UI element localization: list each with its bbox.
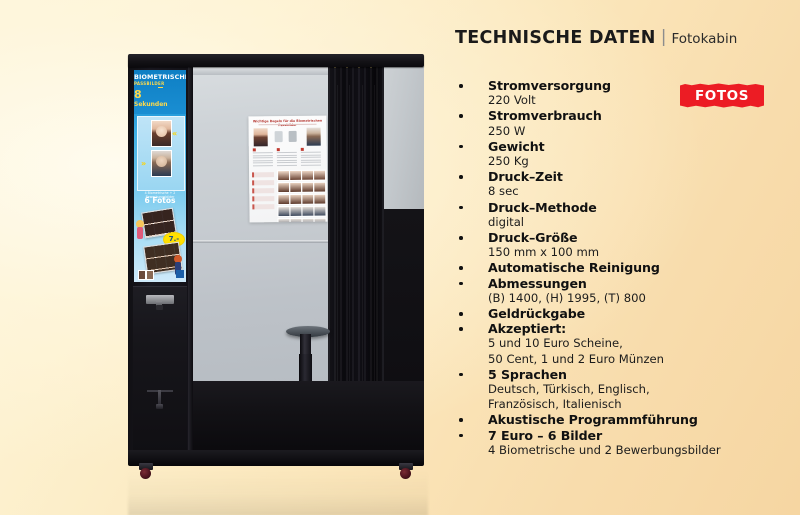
spec-description: Französisch, Italienisch: [488, 397, 797, 412]
spec-description: 5 und 10 Euro Scheine,: [488, 336, 797, 351]
coin-payment-panel: [133, 286, 187, 453]
page-title-sub: Fotokabin: [671, 31, 737, 47]
biometric-rules-poster: Wichtige Regeln für die Biometrischen Pa…: [248, 116, 327, 223]
coin-mechanism-bracket: [146, 295, 174, 304]
spec-term: 5 Sprachen: [488, 367, 797, 382]
photo-booth-image: Wichtige Regeln für die Biometrischen Pa…: [60, 20, 440, 515]
spec-description: 250 Kg: [488, 154, 797, 169]
rules-poster-text-column-3: [301, 152, 321, 167]
spec-description: 4 Biometrische und 2 Bewerbungsbilder: [488, 443, 797, 458]
booth-column-edge: [188, 65, 193, 455]
booth-rear-wall-upper: [378, 65, 424, 215]
poster-brand-logo: [176, 270, 184, 278]
spec-term: 7 Euro – 6 Bilder: [488, 428, 797, 443]
spec-item: Stromverbrauch250 W: [457, 108, 797, 138]
rules-poster-marker-3: [301, 148, 304, 151]
spec-description: 220 Volt: [488, 93, 797, 108]
rules-poster-marker-1: [253, 148, 256, 151]
spec-item: Akzeptiert:5 und 10 Euro Scheine,50 Cent…: [457, 321, 797, 367]
spec-description: 50 Cent, 1 und 2 Euro Münzen: [488, 352, 797, 367]
booth-caster-wheel: [398, 463, 414, 479]
photo-booth-cabin: Wichtige Regeln für die Biometrischen Pa…: [132, 54, 424, 469]
spec-term: Stromversorgung: [488, 78, 797, 93]
spec-term: Geldrückgabe: [488, 306, 797, 321]
booth-top-cap: [128, 54, 424, 67]
rules-poster-sample-photo-female: [254, 128, 268, 146]
spec-item: Druck–Zeit8 sec: [457, 169, 797, 199]
poster-count-label: 6 Fotos: [134, 196, 186, 205]
spec-term: Automatische Reinigung: [488, 260, 797, 275]
poster-seconds-number: 8: [134, 89, 186, 100]
booth-curtain: [328, 67, 384, 397]
service-door-lock: [156, 404, 163, 409]
spec-description: Deutsch, Türkisch, Englisch,: [488, 382, 797, 397]
spec-term: Akzeptiert:: [488, 321, 797, 336]
title-separator: |: [661, 27, 667, 47]
poster-mini-photo-2: [146, 270, 154, 280]
rules-poster-row-labels: [252, 172, 274, 212]
spec-term: Druck–Größe: [488, 230, 797, 245]
spec-term: Stromverbrauch: [488, 108, 797, 123]
spec-description: digital: [488, 215, 797, 230]
spec-term: Gewicht: [488, 139, 797, 154]
spec-description: (B) 1400, (H) 1995, (T) 800: [488, 291, 797, 306]
booth-base-panel: [184, 381, 424, 459]
poster-seconds-label: Sekunden: [134, 101, 186, 108]
spec-item: Stromversorgung220 Volt: [457, 78, 797, 108]
coin-slot: [156, 305, 163, 310]
spec-term: Abmessungen: [488, 276, 797, 291]
rules-poster-sample-grid: [277, 170, 326, 223]
rules-poster-marker-2: [277, 148, 280, 151]
rules-poster-diagram-1: [275, 131, 283, 142]
page-title-main: TECHNISCHE DATEN: [455, 28, 656, 48]
rules-poster-text-column-2: [277, 152, 297, 167]
poster-cartoon-girl: [136, 220, 144, 240]
spec-item: Druck–Methodedigital: [457, 200, 797, 230]
spec-item: Gewicht250 Kg: [457, 139, 797, 169]
spec-term: Druck–Methode: [488, 200, 797, 215]
poster-sample-face-male: [151, 150, 172, 177]
poster-sample-photos: « »: [137, 116, 185, 191]
poster-sample-face-female: [151, 120, 172, 147]
spec-item: Akustische Programmführung: [457, 412, 797, 427]
spec-item: Geldrückgabe: [457, 306, 797, 321]
spec-term: Druck–Zeit: [488, 169, 797, 184]
spec-item: 7 Euro – 6 Bilder4 Biometrische und 2 Be…: [457, 428, 797, 458]
specifications-list: Stromversorgung220 VoltStromverbrauch250…: [457, 78, 797, 458]
spec-item: Automatische Reinigung: [457, 260, 797, 275]
floor-reflection: [128, 470, 428, 515]
spec-description: 150 mm x 100 mm: [488, 245, 797, 260]
poster-subtitle: PASSBILDER: [134, 81, 186, 86]
page-title: TECHNISCHE DATEN|Fotokabin: [455, 28, 737, 48]
poster-mini-photo-1: [138, 270, 146, 280]
booth-bottom-lip: [128, 450, 424, 466]
spec-term: Akustische Programmführung: [488, 412, 797, 427]
rules-poster-sample-photo-male: [307, 128, 321, 146]
rules-poster-text-column-1: [253, 152, 273, 167]
page-root: Wichtige Regeln für die Biometrischen Pa…: [0, 0, 800, 515]
rules-poster-diagram-2: [289, 131, 297, 142]
poster-title: BIOMETRISCHE: [134, 73, 186, 81]
spec-description: 8 sec: [488, 184, 797, 199]
spec-description: 250 W: [488, 124, 797, 139]
advertising-poster: BIOMETRISCHE PASSBILDER 8 Sekunden « » 4…: [134, 70, 186, 282]
spec-item: 5 SprachenDeutsch, Türkisch, Englisch,Fr…: [457, 367, 797, 413]
technical-data-panel: TECHNISCHE DATEN|Fotokabin FOTOS Stromve…: [448, 0, 800, 515]
spec-item: Druck–Größe150 mm x 100 mm: [457, 230, 797, 260]
chevron-right-icon: »: [141, 160, 146, 168]
chevron-left-icon: «: [172, 130, 177, 138]
spec-item: Abmessungen(B) 1400, (H) 1995, (T) 800: [457, 276, 797, 306]
poster-divider: [158, 87, 163, 88]
booth-caster-wheel: [138, 463, 154, 479]
